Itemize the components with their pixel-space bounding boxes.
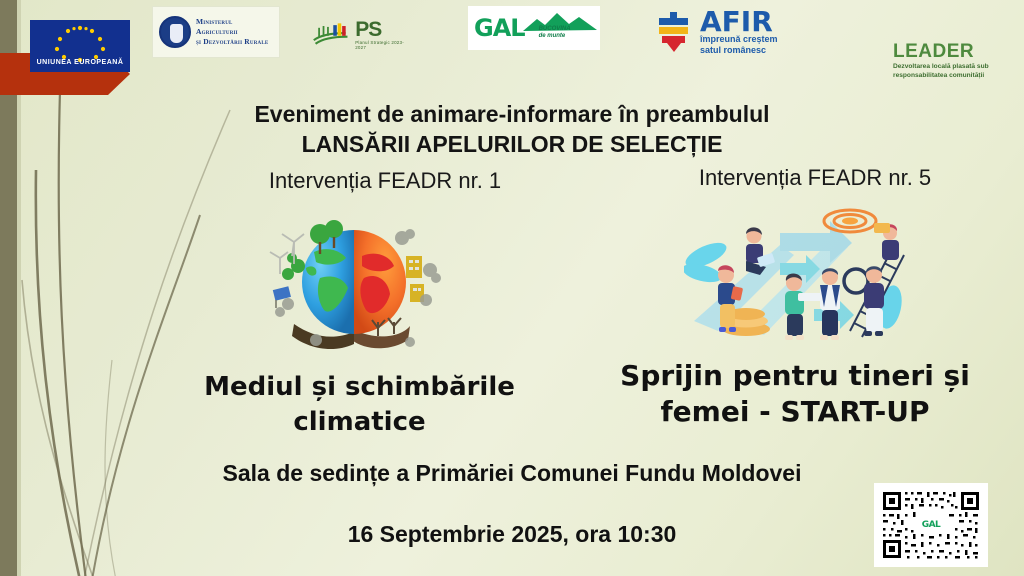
qr-center-logo: GAL: [920, 519, 943, 531]
caption-left-line-2: climatice: [182, 405, 537, 440]
event-poster: UNIUNEA EUROPEANĂ Ministerul Agriculturi…: [0, 0, 1024, 576]
madr-seal-icon: [159, 16, 191, 48]
madr-line2: și Dezvoltării Rurale: [196, 37, 273, 47]
madr-logo: Ministerul Agriculturii și Dezvoltării R…: [152, 6, 280, 58]
ps-logo: PS Planul Strategic 2023-2027: [312, 16, 408, 52]
afir-tagline-1: împreună creștem: [700, 34, 778, 44]
gal-sub-line2: de munte: [539, 33, 571, 40]
madr-line1: Ministerul Agriculturii: [196, 17, 273, 37]
qr-code[interactable]: GAL: [874, 483, 988, 567]
startup-teamwork-illustration: [684, 203, 912, 353]
eu-flag-caption: UNIUNEA EUROPEANĂ: [30, 59, 130, 66]
logo-strip: UNIUNEA EUROPEANĂ Ministerul Agriculturi…: [0, 0, 1024, 95]
headline-line-1: Eveniment de animare-informare în preamb…: [0, 100, 1024, 130]
afir-wordmark: AFIR: [700, 9, 778, 34]
poster-headline: Eveniment de animare-informare în preamb…: [0, 100, 1024, 160]
climate-globe-illustration: [258, 212, 448, 367]
intervention-right-label: Intervenția FEADR nr. 5: [635, 165, 995, 191]
leader-sub-line1: Dezvoltarea locală plasată sub: [893, 63, 1021, 72]
caption-right-line-2: femei - START-UP: [590, 394, 1000, 430]
ps-wordmark: PS: [355, 19, 408, 40]
event-datetime: 16 Septembrie 2025, ora 10:30: [0, 521, 1024, 548]
headline-line-2: LANSĂRII APELURILOR DE SELECȚIE: [0, 130, 1024, 160]
afir-emblem-icon: [655, 12, 693, 52]
intervention-left-label: Intervenția FEADR nr. 1: [205, 168, 565, 194]
gal-sub-line1: BUCOVINA: [539, 26, 571, 33]
ps-field-icon: [312, 19, 349, 49]
gal-logo: GAL BUCOVINA de munte: [468, 6, 600, 50]
intervention-right-caption: Sprijin pentru tineri și femei - START-U…: [590, 358, 1000, 431]
ps-subtitle: Planul Strategic 2023-2027: [355, 40, 408, 50]
afir-logo: AFIR împreună creștem satul românesc: [655, 8, 835, 56]
leader-logo: LEADER Dezvoltarea locală plasată sub re…: [893, 42, 1021, 80]
gal-wordmark: GAL: [474, 16, 525, 40]
leader-wordmark: LEADER: [893, 42, 1021, 61]
intervention-left-caption: Mediul și schimbările climatice: [182, 370, 537, 440]
caption-right-line-1: Sprijin pentru tineri și: [590, 358, 1000, 394]
event-venue: Sala de sedințe a Primăriei Comunei Fund…: [0, 460, 1024, 487]
caption-left-line-1: Mediul și schimbările: [182, 370, 537, 405]
afir-tagline-2: satul românesc: [700, 45, 778, 55]
leader-sub-line2: responsabilitatea comunității: [893, 72, 1021, 81]
